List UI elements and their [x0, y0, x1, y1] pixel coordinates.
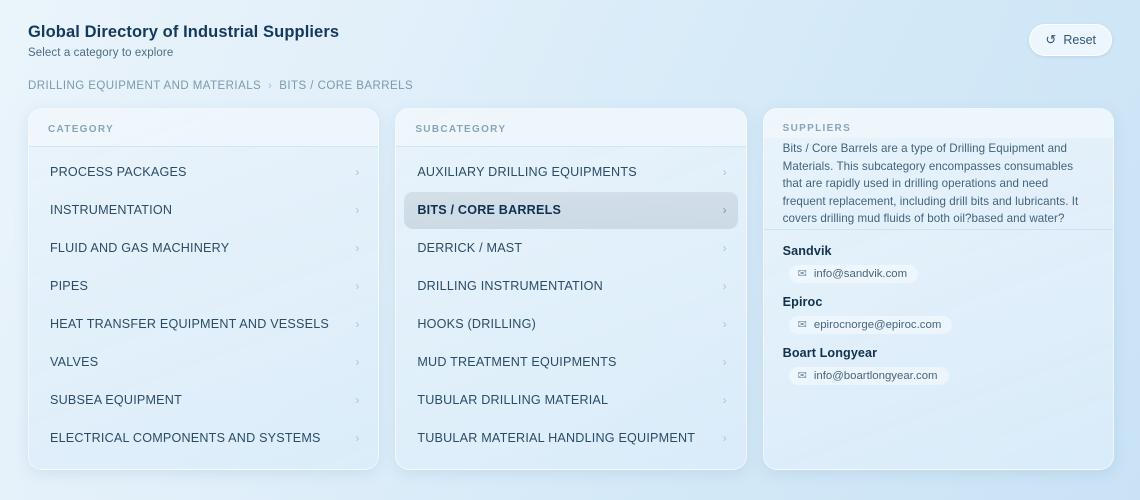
subcategory-item-row-label: DRILLING INSTRUMENTATION	[417, 279, 603, 293]
subcategory-panel-header: SUBCATEGORY	[396, 109, 745, 147]
category-panel: CATEGORY PROCESS PACKAGES›INSTRUMENTATIO…	[28, 108, 379, 470]
subcategory-item-row-label: HOOKS (DRILLING)	[417, 317, 536, 331]
breadcrumb: DRILLING EQUIPMENT AND MATERIALS › BITS …	[28, 80, 413, 92]
supplier-email-text: epirocnorge@epiroc.com	[814, 319, 941, 331]
chevron-right-icon: ›	[355, 203, 359, 217]
reset-button[interactable]: ↺ Reset	[1029, 24, 1112, 56]
chevron-right-icon: ›	[723, 317, 727, 331]
subcategory-item-row[interactable]: TUBULAR MATERIAL HANDLING EQUIPMENT›	[404, 419, 737, 457]
subcategory-item-row-label: TUBULAR DRILLING MATERIAL	[417, 393, 608, 407]
category-item-row-label: PROCESS PACKAGES	[50, 165, 187, 179]
subcategory-item-row[interactable]: BITS / CORE BARRELS›	[404, 191, 737, 229]
page-title: Global Directory of Industrial Suppliers	[28, 22, 1112, 42]
category-item-row[interactable]: ELECTRICAL COMPONENTS AND SYSTEMS›	[37, 419, 370, 457]
chevron-right-icon: ›	[723, 393, 727, 407]
mail-icon: ✉	[798, 371, 807, 382]
chevron-right-icon: ›	[723, 165, 727, 179]
supplier-entry: Boart Longyear✉info@boartlongyear.com	[783, 346, 1094, 385]
category-item-row[interactable]: SUBSEA EQUIPMENT›	[37, 381, 370, 419]
chevron-right-icon: ›	[268, 80, 272, 92]
chevron-right-icon: ›	[355, 279, 359, 293]
category-item-row-label: SUBSEA EQUIPMENT	[50, 393, 182, 407]
suppliers-panel-title: SUPPLIERS	[783, 123, 1094, 134]
chevron-right-icon: ›	[355, 317, 359, 331]
category-item-row[interactable]: HEAT TRANSFER EQUIPMENT AND VESSELS›	[37, 305, 370, 343]
category-item-row-label: ELECTRICAL COMPONENTS AND SYSTEMS	[50, 431, 321, 445]
category-item-row[interactable]: INSTRUMENTATION›	[37, 191, 370, 229]
subcategory-description-wrapper: Bits / Core Barrels are a type of Drilli…	[764, 140, 1113, 230]
suppliers-panel-header: SUPPLIERS	[764, 109, 1113, 138]
chevron-right-icon: ›	[355, 165, 359, 179]
subcategory-item-row-label: TUBULAR MATERIAL HANDLING EQUIPMENT	[417, 431, 695, 445]
supplier-email-chip[interactable]: ✉info@sandvik.com	[789, 265, 918, 283]
subcategory-item-row-label: AUXILIARY DRILLING EQUIPMENTS	[417, 165, 637, 179]
reset-button-label: Reset	[1063, 33, 1096, 47]
page-header: Global Directory of Industrial Suppliers…	[28, 22, 1112, 82]
page-subtitle: Select a category to explore	[28, 47, 1112, 59]
category-item-row-label: PIPES	[50, 279, 88, 293]
category-item-row-label: INSTRUMENTATION	[50, 203, 172, 217]
category-item-row-label: HEAT TRANSFER EQUIPMENT AND VESSELS	[50, 317, 329, 331]
subcategory-item-row-label: BITS / CORE BARRELS	[417, 203, 561, 217]
chevron-right-icon: ›	[723, 203, 727, 217]
subcategory-panel-title: SUBCATEGORY	[415, 124, 726, 135]
category-item-row[interactable]: PIPES›	[37, 267, 370, 305]
refresh-icon: ↺	[1045, 34, 1057, 46]
chevron-right-icon: ›	[355, 431, 359, 445]
category-item-row[interactable]: PROCESS PACKAGES›	[37, 153, 370, 191]
breadcrumb-item-category[interactable]: DRILLING EQUIPMENT AND MATERIALS	[28, 80, 261, 92]
subcategory-list: AUXILIARY DRILLING EQUIPMENTS›BITS / COR…	[396, 147, 745, 467]
chevron-right-icon: ›	[723, 431, 727, 445]
chevron-right-icon: ›	[355, 355, 359, 369]
supplier-entry: Sandvik✉info@sandvik.com	[783, 244, 1094, 283]
category-list: PROCESS PACKAGES›INSTRUMENTATION›FLUID A…	[29, 147, 378, 467]
subcategory-item-row[interactable]: DERRICK / MAST›	[404, 229, 737, 267]
subcategory-panel: SUBCATEGORY AUXILIARY DRILLING EQUIPMENT…	[395, 108, 746, 470]
chevron-right-icon: ›	[723, 355, 727, 369]
chevron-right-icon: ›	[355, 241, 359, 255]
mail-icon: ✉	[798, 320, 807, 331]
supplier-email-text: info@boartlongyear.com	[814, 370, 938, 382]
chevron-right-icon: ›	[723, 279, 727, 293]
suppliers-panel: SUPPLIERS Bits / Core Barrels are a type…	[763, 108, 1114, 470]
category-panel-header: CATEGORY	[29, 109, 378, 147]
supplier-email-chip[interactable]: ✉info@boartlongyear.com	[789, 367, 949, 385]
subcategory-item-row[interactable]: DRILLING INSTRUMENTATION›	[404, 267, 737, 305]
subcategory-item-row-label: MUD TREATMENT EQUIPMENTS	[417, 355, 616, 369]
category-panel-title: CATEGORY	[48, 124, 359, 135]
subcategory-item-row[interactable]: HOOKS (DRILLING)›	[404, 305, 737, 343]
category-item-row[interactable]: FLUID AND GAS MACHINERY›	[37, 229, 370, 267]
category-item-row-label: FLUID AND GAS MACHINERY	[50, 241, 229, 255]
breadcrumb-item-subcategory[interactable]: BITS / CORE BARRELS	[279, 80, 413, 92]
subcategory-item-row-label: DERRICK / MAST	[417, 241, 522, 255]
chevron-right-icon: ›	[723, 241, 727, 255]
supplier-list: Sandvik✉info@sandvik.comEpiroc✉epirocnor…	[764, 230, 1113, 401]
category-item-row[interactable]: VALVES›	[37, 343, 370, 381]
mail-icon: ✉	[798, 269, 807, 280]
category-item-row-label: VALVES	[50, 355, 98, 369]
subcategory-item-row[interactable]: TUBULAR DRILLING MATERIAL›	[404, 381, 737, 419]
columns-container: CATEGORY PROCESS PACKAGES›INSTRUMENTATIO…	[28, 108, 1114, 470]
subcategory-item-row[interactable]: AUXILIARY DRILLING EQUIPMENTS›	[404, 153, 737, 191]
supplier-email-text: info@sandvik.com	[814, 268, 907, 280]
supplier-email-chip[interactable]: ✉epirocnorge@epiroc.com	[789, 316, 953, 334]
chevron-right-icon: ›	[355, 393, 359, 407]
subcategory-item-row[interactable]: MUD TREATMENT EQUIPMENTS›	[404, 343, 737, 381]
supplier-name: Boart Longyear	[783, 346, 1094, 360]
supplier-name: Sandvik	[783, 244, 1094, 258]
subcategory-description: Bits / Core Barrels are a type of Drilli…	[783, 140, 1094, 230]
supplier-entry: Epiroc✉epirocnorge@epiroc.com	[783, 295, 1094, 334]
supplier-name: Epiroc	[783, 295, 1094, 309]
